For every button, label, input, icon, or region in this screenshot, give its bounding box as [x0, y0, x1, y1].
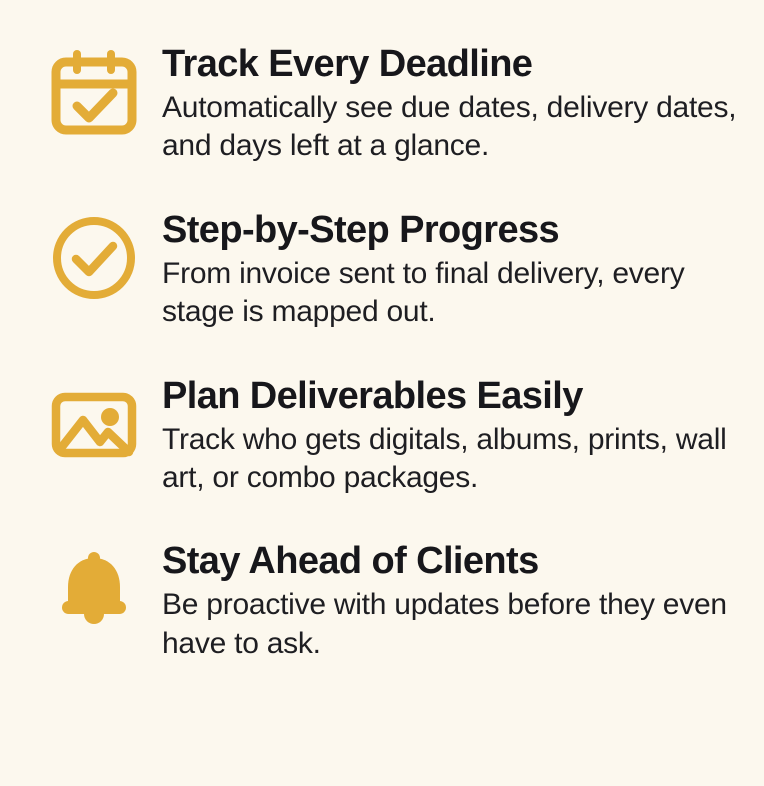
feature-description: Be proactive with updates before they ev…	[162, 586, 740, 663]
feature-title: Stay Ahead of Clients	[162, 541, 740, 582]
feature-text: Step-by-Step Progress From invoice sent …	[162, 210, 740, 332]
feature-description: Track who gets digitals, albums, prints,…	[162, 421, 740, 498]
image-photo-icon	[50, 376, 138, 468]
feature-item-track-every-deadline: Track Every Deadline Automatically see d…	[50, 44, 740, 166]
feature-title: Step-by-Step Progress	[162, 210, 740, 251]
feature-text: Track Every Deadline Automatically see d…	[162, 44, 740, 166]
feature-item-step-by-step-progress: Step-by-Step Progress From invoice sent …	[50, 210, 740, 332]
calendar-check-icon	[50, 44, 138, 136]
feature-text: Plan Deliverables Easily Track who gets …	[162, 376, 740, 498]
feature-title: Track Every Deadline	[162, 44, 740, 85]
feature-item-plan-deliverables-easily: Plan Deliverables Easily Track who gets …	[50, 376, 740, 498]
feature-description: From invoice sent to final delivery, eve…	[162, 255, 740, 332]
feature-list: Track Every Deadline Automatically see d…	[0, 0, 764, 786]
feature-item-stay-ahead-of-clients: Stay Ahead of Clients Be proactive with …	[50, 541, 740, 663]
feature-title: Plan Deliverables Easily	[162, 376, 740, 417]
feature-text: Stay Ahead of Clients Be proactive with …	[162, 541, 740, 663]
circle-check-icon	[50, 210, 138, 302]
bell-icon	[50, 541, 138, 633]
feature-description: Automatically see due dates, delivery da…	[162, 89, 740, 166]
